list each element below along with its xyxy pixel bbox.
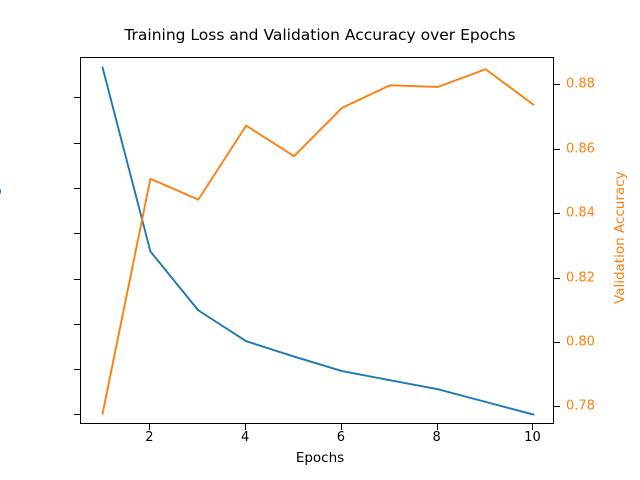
y-axis-right-tick-label: 0.84 xyxy=(566,206,595,221)
plot-lines xyxy=(81,58,555,425)
y-axis-right-tick-label: 0.78 xyxy=(566,399,595,414)
chart-figure: Training Loss and Validation Accuracy ov… xyxy=(0,0,640,480)
y-axis-right-tick-label: 0.80 xyxy=(566,334,595,349)
y-axis-right-tick-label: 0.82 xyxy=(566,270,595,285)
y-axis-left-label: Training Loss xyxy=(0,153,2,240)
x-axis-tick-label: 6 xyxy=(337,430,345,445)
y-axis-right-label: Validation Accuracy xyxy=(612,171,628,304)
x-axis-tick-label: 2 xyxy=(145,430,153,445)
x-axis-tick-label: 8 xyxy=(433,430,441,445)
y-axis-right-tick-label: 0.86 xyxy=(566,141,595,156)
x-axis-tick-label: 4 xyxy=(241,430,249,445)
chart-title: Training Loss and Validation Accuracy ov… xyxy=(0,26,640,44)
x-axis-label: Epochs xyxy=(0,450,640,466)
y-axis-right-tick-label: 0.88 xyxy=(566,77,595,92)
training-loss-line xyxy=(103,68,534,415)
plot-area xyxy=(80,57,554,424)
validation-accuracy-line xyxy=(103,69,534,413)
x-axis-tick-label: 10 xyxy=(524,430,541,445)
